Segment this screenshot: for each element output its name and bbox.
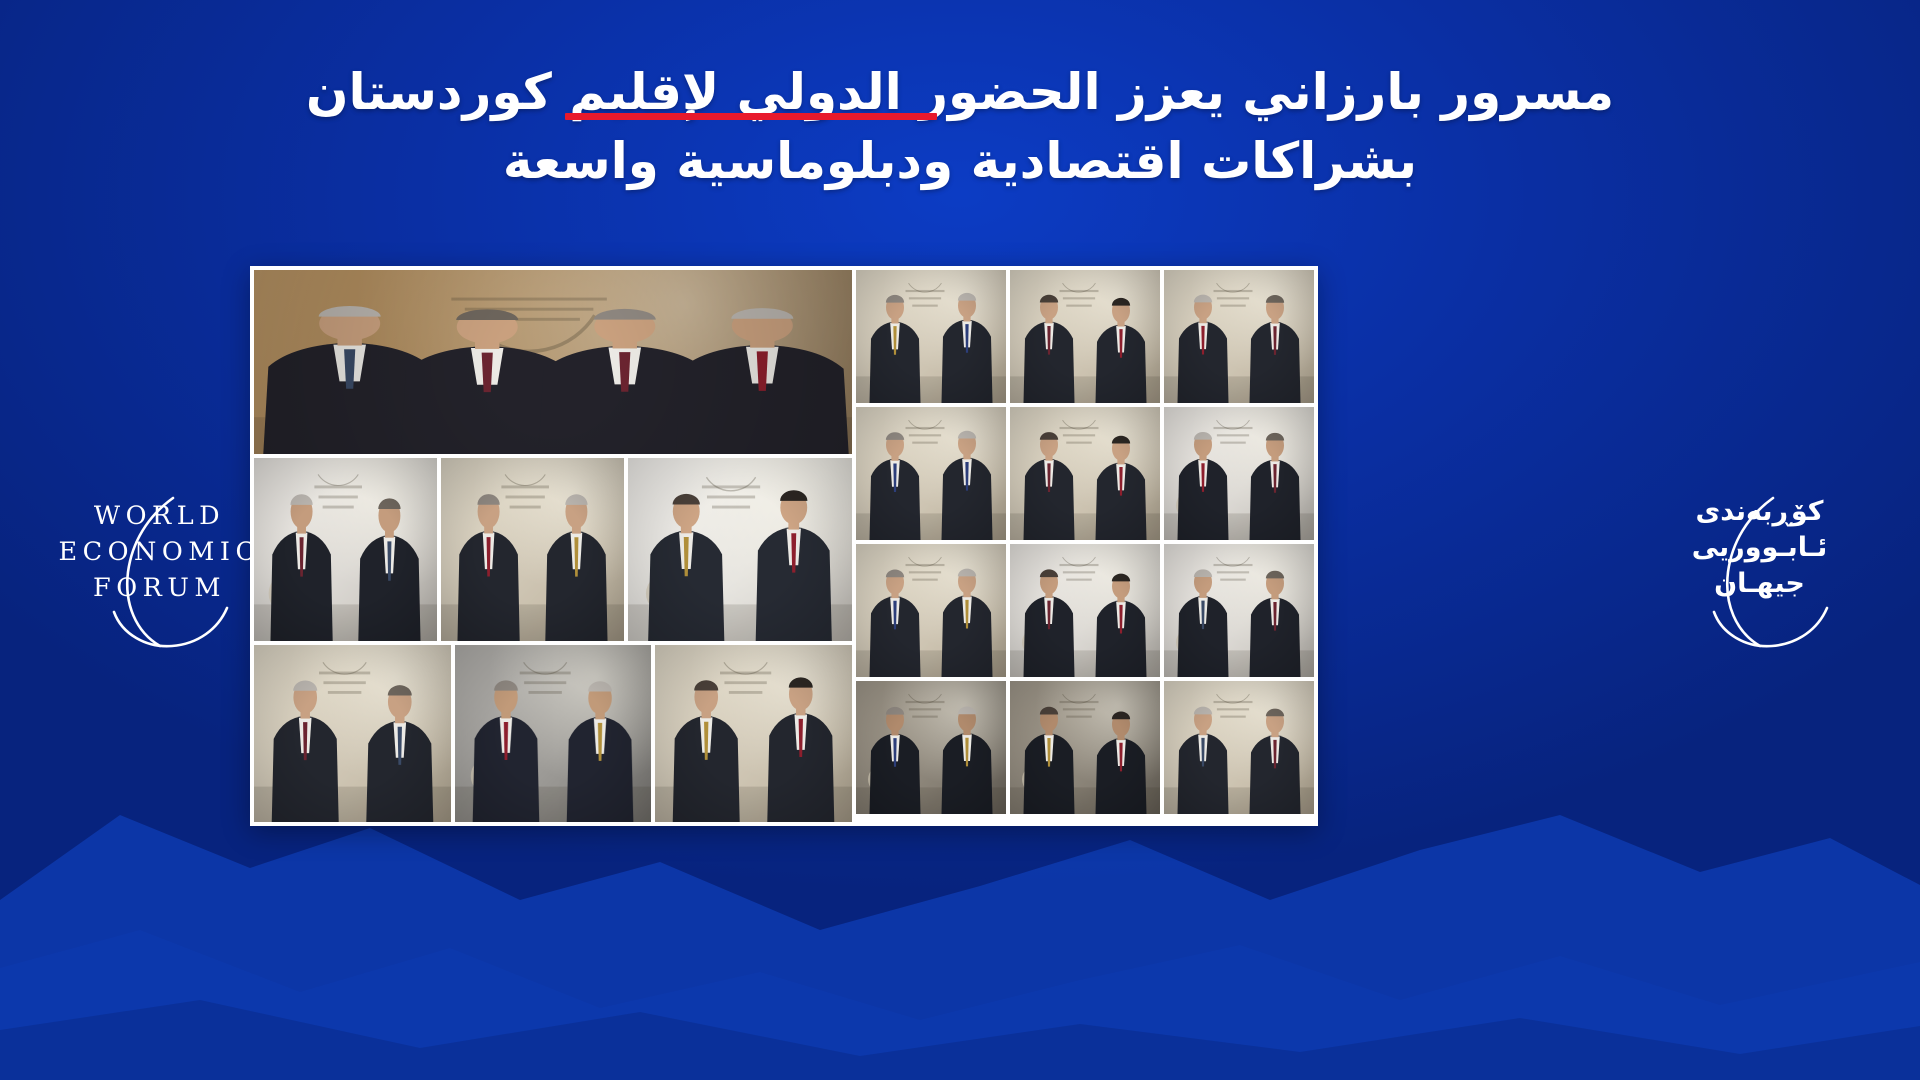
collage-photo-image (254, 645, 451, 822)
collage-photo-feature (254, 270, 852, 454)
collage-row (856, 407, 1314, 540)
collage-photo-image (1164, 407, 1314, 540)
collage-photo (856, 681, 1006, 814)
headline-underline (565, 113, 937, 120)
collage-photo-image (856, 270, 1006, 403)
collage-photo-image (254, 458, 437, 641)
collage-photo (441, 458, 624, 641)
headline-line-1: مسرور بارزاني يعزز الحضور الدولي لإقليم … (0, 58, 1920, 127)
collage-photo (856, 270, 1006, 403)
collage-photo (254, 458, 437, 641)
collage-photo (1164, 544, 1314, 677)
collage-left-grid (856, 270, 1314, 822)
collage-row (254, 645, 852, 822)
photo-collage (250, 266, 1318, 826)
collage-row (856, 681, 1314, 814)
collage-photo (1010, 544, 1160, 677)
wef-logo-kurdish-line-1: کۆڕبەندی (1652, 494, 1867, 530)
collage-photo-image (455, 645, 652, 822)
headline-line-2: بشراكات اقتصادية ودبلوماسية واسعة (0, 127, 1920, 196)
collage-photo (1164, 681, 1314, 814)
collage-photo (1164, 407, 1314, 540)
collage-photo-image (1010, 544, 1160, 677)
collage-photo (628, 458, 852, 641)
collage-photo-image (1164, 270, 1314, 403)
wef-logo-line-1: WORLD (52, 498, 267, 534)
collage-photo (1010, 407, 1160, 540)
collage-photo (455, 645, 652, 822)
collage-photo (1164, 270, 1314, 403)
collage-row (856, 544, 1314, 677)
wef-logo-line-2: ECONOMIC (52, 534, 267, 570)
page-title: مسرور بارزاني يعزز الحضور الدولي لإقليم … (0, 58, 1920, 196)
wef-logo-kurdish-line-3: جیهـان (1652, 566, 1867, 602)
collage-photo-image (441, 458, 624, 641)
collage-row (254, 458, 852, 641)
collage-photo-image (856, 681, 1006, 814)
collage-row (254, 270, 852, 454)
wef-logo-english: WORLD ECONOMIC FORUM (52, 498, 267, 648)
collage-right-grid (254, 270, 852, 822)
collage-photo-image (1164, 544, 1314, 677)
collage-photo (856, 544, 1006, 677)
collage-photo-image (856, 407, 1006, 540)
collage-photo (1010, 681, 1160, 814)
collage-photo-image (1010, 681, 1160, 814)
collage-photo-image (254, 270, 852, 454)
wef-logo-kurdish: کۆڕبەندی ئـابـووریی جیهـان (1652, 498, 1867, 648)
collage-photo-image (856, 544, 1006, 677)
wef-logo-text: WORLD ECONOMIC FORUM (52, 498, 267, 607)
wef-logo-line-3: FORUM (52, 570, 267, 606)
collage-row (856, 270, 1314, 403)
collage-photo (655, 645, 852, 822)
collage-photo-image (628, 458, 852, 641)
collage-photo-image (1010, 270, 1160, 403)
collage-photo-image (655, 645, 852, 822)
collage-photo (856, 407, 1006, 540)
collage-photo (1010, 270, 1160, 403)
wef-logo-kurdish-line-2: ئـابـووریی (1652, 530, 1867, 566)
collage-photo (254, 645, 451, 822)
collage-photo-image (1164, 681, 1314, 814)
wef-logo-kurdish-text: کۆڕبەندی ئـابـووریی جیهـان (1652, 494, 1867, 602)
collage-photo-image (1010, 407, 1160, 540)
